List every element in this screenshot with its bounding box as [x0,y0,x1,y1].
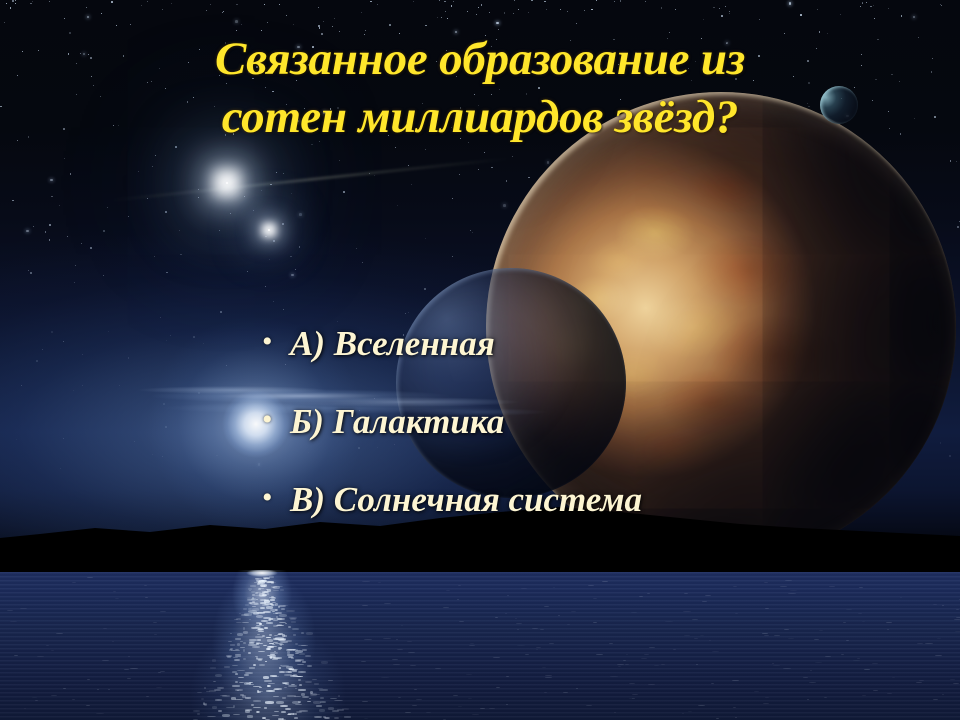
answer-option-a[interactable]: А) Вселенная [290,325,495,363]
answer-option-b[interactable]: Б) Галактика [290,403,504,441]
moonlight-reflection [0,570,960,720]
answer-list: • А) Вселенная • Б) Галактика • В) Солне… [262,325,902,559]
list-item[interactable]: • А) Вселенная [262,325,902,403]
quiz-slide: Связанное образование из сотен миллиардо… [0,0,960,720]
bullet-icon: • [262,483,290,513]
list-item[interactable]: • В) Солнечная система [262,481,902,559]
lens-flare [111,157,509,202]
page-title: Связанное образование из сотен миллиардо… [60,30,900,146]
bright-star-large [226,182,228,184]
bright-star-small [268,229,270,231]
bullet-icon: • [262,327,290,357]
answer-option-c[interactable]: В) Солнечная система [290,481,642,519]
bullet-icon: • [262,405,290,435]
list-item[interactable]: • Б) Галактика [262,403,902,481]
